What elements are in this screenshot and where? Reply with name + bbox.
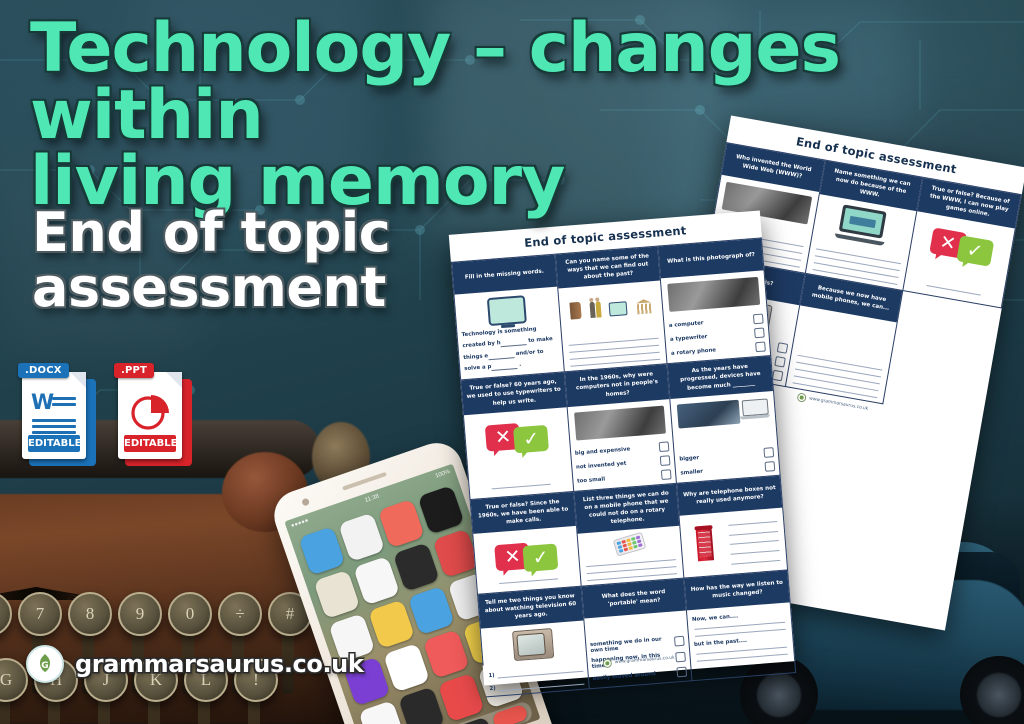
- typewriter-key: 6: [0, 592, 12, 636]
- option-label: big and expensive: [575, 446, 631, 456]
- grammarsaurus-g-icon: G: [26, 645, 64, 683]
- subtitle-line-2: assessment: [32, 260, 512, 315]
- option-checkbox[interactable]: [677, 667, 688, 678]
- question-body[interactable]: Now, we can....but in the past....: [687, 602, 795, 680]
- typewriter-key: 8: [68, 592, 112, 636]
- option-checkbox[interactable]: [772, 370, 784, 382]
- option-checkbox[interactable]: [764, 461, 775, 472]
- question-body[interactable]: something we do in our own timehappening…: [584, 611, 692, 689]
- typewriter-key: 9: [118, 592, 162, 636]
- option-label: smaller: [680, 468, 703, 476]
- svg-text:G: G: [41, 661, 48, 671]
- docx-badge[interactable]: W EDITABLE .DOCX: [22, 372, 96, 466]
- app-icon: [378, 499, 425, 549]
- option-checkbox[interactable]: [753, 314, 764, 325]
- question-body[interactable]: ✕✓: [464, 407, 573, 499]
- option-checkbox[interactable]: [774, 356, 786, 368]
- typewriter-key: ÷: [218, 592, 262, 636]
- app-icon: [408, 586, 455, 636]
- app-icon: [368, 599, 415, 649]
- app-icon: [358, 700, 405, 724]
- docx-editable-label: EDITABLE: [28, 435, 80, 452]
- option-checkbox[interactable]: [676, 652, 687, 663]
- option-label: not invented yet: [576, 460, 627, 470]
- question-cell[interactable]: As the years have progressed, devices ha…: [668, 356, 781, 483]
- red-telephone-box-icon: [696, 528, 714, 561]
- answer-line[interactable]: [729, 531, 778, 536]
- true-false-bubbles-icon: ✕✓: [478, 530, 576, 578]
- old-computer-room-photo: [574, 405, 667, 440]
- option-checkbox[interactable]: [674, 636, 685, 647]
- question-body[interactable]: 1)2): [481, 621, 589, 697]
- answer-line[interactable]: [731, 550, 780, 555]
- question-cell[interactable]: What does the word 'portable' mean?somet…: [581, 579, 692, 690]
- typewriter-key: 7: [18, 592, 62, 636]
- app-icon: [313, 570, 360, 620]
- answer-line[interactable]: [695, 622, 785, 630]
- question-body[interactable]: ✕✓: [904, 212, 1015, 308]
- question-cell[interactable]: Can you name some of the ways that we ca…: [555, 247, 668, 373]
- option-label: easily moved around: [592, 672, 656, 683]
- option-label: a typewriter: [670, 334, 708, 343]
- answer-line[interactable]: [730, 540, 779, 545]
- question-cell[interactable]: In the 1960s, why were computers not in …: [565, 365, 678, 492]
- sentence-starter: but in the past....: [694, 635, 789, 648]
- option-checkbox[interactable]: [763, 447, 774, 458]
- app-icon: [438, 673, 485, 723]
- question-body[interactable]: [680, 507, 787, 577]
- option-checkbox[interactable]: [754, 328, 765, 339]
- brand-logo-text: grammarsaurus.co.uk: [75, 650, 363, 678]
- option-label: bigger: [679, 455, 699, 463]
- answer-line[interactable]: [499, 684, 584, 692]
- option-label: too small: [577, 476, 605, 484]
- question-cell[interactable]: What is this photograph of?a computera t…: [659, 238, 772, 364]
- question-cell[interactable]: True or false? 60 years ago, we used to …: [461, 373, 574, 500]
- docx-extension-label: .DOCX: [18, 363, 69, 378]
- smartphone-icon: [613, 532, 647, 557]
- option-checkbox[interactable]: [776, 342, 788, 354]
- ppt-extension-label: .PPT: [114, 363, 154, 378]
- sentence-starter: Now, we can....: [692, 610, 787, 623]
- option-label: a computer: [669, 321, 704, 330]
- answer-line[interactable]: [729, 521, 778, 526]
- answer-line[interactable]: [697, 654, 787, 662]
- true-false-bubbles-icon: ✕✓: [468, 411, 566, 459]
- option-checkbox[interactable]: [661, 469, 672, 480]
- typewriter-key: G: [0, 658, 28, 702]
- page-subtitle: End of topic assessment: [32, 205, 512, 315]
- brand-logo[interactable]: G grammarsaurus.co.uk: [26, 645, 363, 683]
- ppt-badge[interactable]: EDITABLE .PPT: [118, 372, 192, 466]
- old-telephone-exchange-photo: [668, 277, 761, 312]
- typewriter-key: 0: [168, 592, 212, 636]
- answer-line[interactable]: [568, 338, 658, 346]
- answer-line[interactable]: [586, 566, 676, 574]
- question-cell[interactable]: Because we now have mobile phones, we ca…: [785, 274, 903, 405]
- powerpoint-document-icon: [130, 390, 176, 428]
- answer-line[interactable]: [570, 352, 660, 360]
- question-cell[interactable]: List three things we can do on a mobile …: [574, 483, 685, 586]
- answer-line[interactable]: [586, 559, 676, 567]
- list-number: 2): [489, 686, 496, 692]
- question-body[interactable]: [786, 305, 897, 403]
- app-icon: [418, 485, 465, 535]
- old-new-devices-photo: [677, 397, 769, 428]
- retro-tv-icon: [512, 628, 554, 661]
- answer-line[interactable]: [498, 671, 583, 679]
- question-body[interactable]: biggersmaller: [671, 391, 780, 483]
- answer-line[interactable]: [569, 345, 659, 353]
- true-tick-icon: ✓: [513, 424, 549, 453]
- option-row[interactable]: easily moved around: [592, 667, 687, 684]
- option-checkbox[interactable]: [660, 455, 671, 466]
- list-number: 1): [488, 673, 495, 679]
- question-body[interactable]: [577, 526, 683, 586]
- option-checkbox[interactable]: [755, 342, 766, 353]
- option-label: something we do in our own time: [590, 636, 671, 654]
- question-body[interactable]: a computera typewritera rotary phone: [661, 270, 770, 363]
- grammarsaurus-g-icon: [797, 392, 807, 402]
- answer-line[interactable]: [697, 647, 787, 655]
- question-cell[interactable]: True or false? Since the 1960s, we have …: [471, 492, 582, 595]
- option-row[interactable]: a rotary phone: [671, 342, 766, 359]
- app-icon: [338, 512, 385, 562]
- page-title: Technology – changes within living memor…: [30, 16, 1024, 216]
- true-tick-icon: ✓: [523, 543, 559, 572]
- answer-line[interactable]: [732, 560, 781, 565]
- question-cell[interactable]: Why are telephone boxes not really used …: [677, 475, 788, 578]
- question-body[interactable]: big and expensivenot invented yettoo sma…: [567, 399, 676, 491]
- app-icon: [383, 643, 430, 693]
- fill-in-text: Technology is somethingcreated by h to m…: [461, 323, 559, 376]
- app-icon: [423, 629, 470, 679]
- question-body[interactable]: ✕✓: [473, 526, 580, 594]
- app-icon: [353, 556, 400, 606]
- question-body[interactable]: [558, 281, 667, 372]
- app-icon: [398, 686, 445, 724]
- editable-format-badges: W EDITABLE .DOCX EDITABLE .: [22, 372, 192, 466]
- title-line-1: Technology – changes within: [30, 16, 1024, 149]
- ppt-editable-label: EDITABLE: [124, 435, 176, 452]
- question-cell[interactable]: How has the way we listen to music chang…: [685, 570, 796, 681]
- word-document-icon: W: [31, 392, 77, 430]
- question-cell[interactable]: Tell me two things you know about watchi…: [478, 587, 589, 698]
- subtitle-line-1: End of topic: [32, 205, 512, 260]
- option-checkbox[interactable]: [659, 441, 670, 452]
- true-tick-icon: ✓: [956, 235, 994, 267]
- app-icon: [393, 542, 440, 592]
- option-row[interactable]: smaller: [680, 461, 775, 478]
- poster-canvas: 567890÷#FGHJKL! ●●●●●11:38100% End of to…: [0, 0, 1024, 724]
- option-label: a rotary phone: [671, 348, 716, 358]
- option-row[interactable]: too small: [577, 469, 672, 486]
- app-icon: [298, 526, 345, 576]
